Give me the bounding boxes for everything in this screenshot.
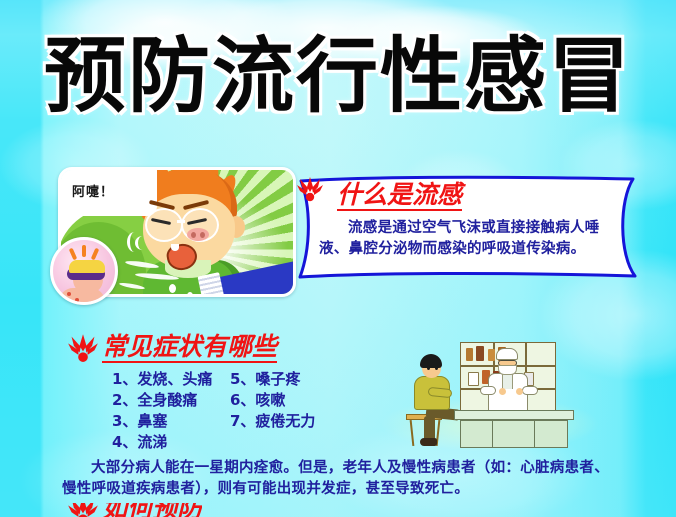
medicine-jar bbox=[466, 348, 473, 361]
eyeglass-bridge bbox=[177, 220, 185, 223]
doctor-consultation-illustration bbox=[398, 340, 588, 450]
symptom-item: 6、咳嗽 bbox=[230, 390, 402, 411]
next-section-heading: 如何预防 bbox=[102, 503, 202, 517]
sneeze-droplet bbox=[187, 292, 193, 294]
doctor-arm bbox=[480, 386, 496, 395]
medicine-jar bbox=[468, 372, 479, 386]
symptoms-heading-row: 常见症状有哪些 bbox=[68, 332, 277, 364]
motion-arc bbox=[135, 236, 150, 250]
rash-dot bbox=[75, 298, 79, 302]
doctor-hand bbox=[499, 388, 506, 395]
symptom-item: 4、流涕 bbox=[112, 432, 230, 453]
medicine-jar bbox=[476, 346, 484, 361]
fever-ray bbox=[69, 248, 78, 261]
rash-dot bbox=[67, 292, 71, 296]
fever-ray bbox=[91, 248, 100, 261]
doctor-arm bbox=[522, 386, 538, 395]
red-burst-icon bbox=[68, 332, 98, 364]
what-is-flu-heading-row: 什么是流感 bbox=[319, 181, 617, 211]
boy-nose bbox=[187, 228, 209, 241]
what-is-flu-content: 什么是流感 流感是通过空气飞沫或直接接触病人唾液、鼻腔分泌物而感染的呼吸道传染病… bbox=[297, 175, 645, 280]
speech-bubble: 阿嚏！ bbox=[61, 170, 157, 216]
symptoms-heading: 常见症状有哪些 bbox=[102, 333, 277, 363]
symptoms-note: 大部分病人能在一星期内痊愈。但是，老年人及慢性病患者（如：心脏病患者、慢性呼吸道… bbox=[62, 458, 618, 499]
symptom-item: 1、发烧、头痛 bbox=[112, 369, 230, 390]
desk-leg bbox=[492, 420, 493, 448]
what-is-flu-heading: 什么是流感 bbox=[337, 181, 462, 211]
symptoms-list: 1、发烧、头痛 2、全身酸痛 3、鼻塞 4、流涕 5、嗓子疼 6、咳嗽 7、疲倦… bbox=[112, 369, 402, 453]
red-burst-icon bbox=[68, 503, 98, 517]
red-burst-icon bbox=[297, 175, 323, 203]
doctor-cap bbox=[496, 348, 518, 360]
next-section-heading-row: 如何预防 bbox=[68, 503, 202, 517]
fever-towel bbox=[69, 260, 105, 273]
what-is-flu-box: 什么是流感 流感是通过空气飞沫或直接接触病人唾液、鼻腔分泌物而感染的呼吸道传染病… bbox=[297, 175, 645, 280]
what-is-flu-body: 流感是通过空气飞沫或直接接触病人唾液、鼻腔分泌物而感染的呼吸道传染病。 bbox=[319, 218, 617, 259]
doctor-hand bbox=[516, 388, 523, 395]
patient-eye bbox=[427, 366, 430, 370]
patient-eye bbox=[435, 366, 438, 370]
clinic-desk-top bbox=[454, 410, 574, 420]
inset-circle-illustration bbox=[50, 237, 118, 305]
clinic-desk-front bbox=[460, 420, 568, 448]
symptom-item: 2、全身酸痛 bbox=[112, 390, 230, 411]
symptom-item-empty bbox=[230, 432, 402, 453]
boy-tooth bbox=[171, 244, 179, 251]
symptom-item: 3、鼻塞 bbox=[112, 411, 230, 432]
symptom-item: 5、嗓子疼 bbox=[230, 369, 402, 390]
patient-shoe bbox=[420, 438, 437, 446]
medicine-jar bbox=[488, 349, 495, 361]
desk-leg bbox=[534, 420, 535, 448]
symptom-item: 7、疲倦无力 bbox=[230, 411, 402, 432]
sneeze-droplet bbox=[169, 284, 176, 293]
speech-bubble-text: 阿嚏！ bbox=[72, 181, 114, 200]
doctor-face-mask bbox=[498, 365, 517, 375]
eyeglass-lens bbox=[145, 208, 183, 242]
poster-title: 预防流行性感冒 bbox=[0, 36, 676, 118]
doctor-lapel bbox=[502, 373, 513, 389]
fever-ray bbox=[82, 245, 86, 257]
patient-hair bbox=[420, 354, 442, 368]
poster-canvas: 预防流行性感冒 bbox=[0, 0, 676, 517]
